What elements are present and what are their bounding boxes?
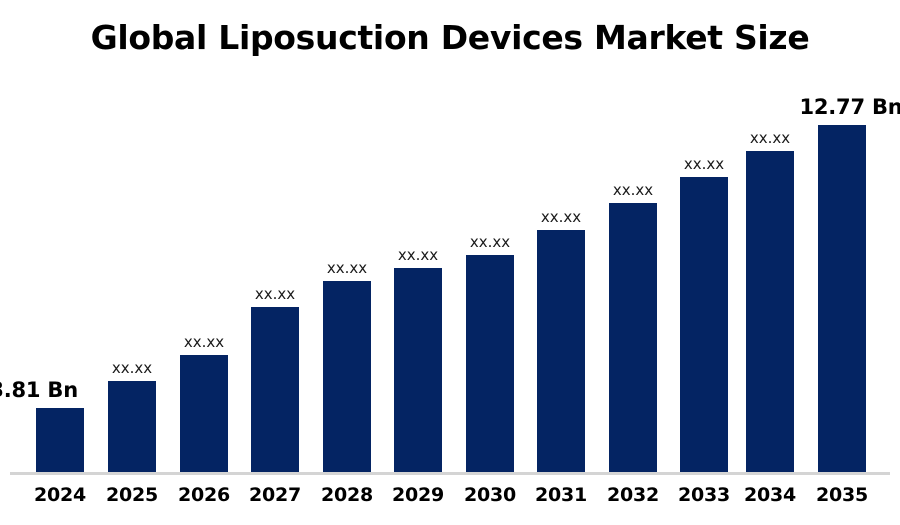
bar-chart: Global Liposuction Devices Market Size 3… bbox=[0, 0, 900, 525]
bar-value-label: xx.xx bbox=[144, 333, 264, 351]
bar bbox=[394, 268, 442, 472]
bar bbox=[466, 255, 514, 472]
bar-value-label: xx.xx bbox=[430, 233, 550, 251]
bar-value-label: xx.xx bbox=[72, 359, 192, 377]
bar bbox=[746, 151, 794, 472]
plot-area: 3.81 Bnxx.xxxx.xxxx.xxxx.xxxx.xxxx.xxxx.… bbox=[0, 0, 900, 474]
bar-value-label: 3.81 Bn bbox=[0, 378, 78, 402]
bar-value-label: 12.77 Bn bbox=[791, 95, 900, 119]
bar bbox=[251, 307, 299, 472]
bar-value-label: xx.xx bbox=[501, 208, 621, 226]
x-axis-label: 2035 bbox=[794, 480, 890, 510]
bar-group: 12.77 Bn bbox=[818, 0, 866, 472]
bar-group: xx.xx bbox=[537, 0, 585, 472]
bar bbox=[680, 177, 728, 472]
bar-group: xx.xx bbox=[746, 0, 794, 472]
bar bbox=[609, 203, 657, 472]
bar bbox=[818, 125, 866, 472]
bar-group: xx.xx bbox=[180, 0, 228, 472]
bar-group: xx.xx bbox=[466, 0, 514, 472]
bar-group: 3.81 Bn bbox=[36, 0, 84, 472]
bar bbox=[36, 408, 84, 472]
bar-group: xx.xx bbox=[323, 0, 371, 472]
bar bbox=[108, 381, 156, 472]
bar-group: xx.xx bbox=[680, 0, 728, 472]
bar bbox=[180, 355, 228, 472]
bar-group: xx.xx bbox=[251, 0, 299, 472]
x-axis-line bbox=[10, 472, 890, 475]
bar-group: xx.xx bbox=[609, 0, 657, 472]
x-axis-labels: 2024202520262027202820292030203120322033… bbox=[0, 480, 900, 525]
bar bbox=[537, 230, 585, 472]
bar-value-label: xx.xx bbox=[573, 181, 693, 199]
bar-group: xx.xx bbox=[108, 0, 156, 472]
bar bbox=[323, 281, 371, 472]
bar-value-label: xx.xx bbox=[710, 129, 830, 147]
bar-value-label: xx.xx bbox=[215, 285, 335, 303]
